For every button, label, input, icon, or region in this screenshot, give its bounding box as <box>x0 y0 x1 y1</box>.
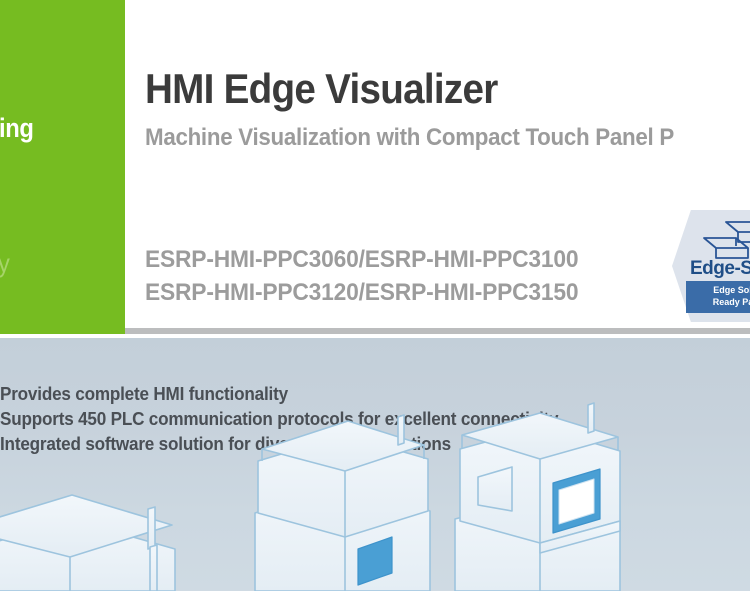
page-subtitle: Machine Visualization with Compact Touch… <box>145 123 674 153</box>
page-title: HMI Edge Visualizer <box>145 66 498 112</box>
touch-panel-screen <box>553 469 600 533</box>
machine-left <box>0 495 175 591</box>
touch-panel-screen-middle <box>358 537 392 585</box>
model-number-row: ESRP-HMI-PPC3120/ESRP-HMI-PPC3150 <box>145 276 578 309</box>
category-sublabel: ...on-Ready ...age <box>0 245 125 319</box>
category-label: ...strial ...pment ...nufacturing <box>0 33 99 147</box>
product-banner: ...strial ...pment ...nufacturing ...on-… <box>0 0 750 591</box>
badge-banner-line-2: Ready Pack <box>686 297 750 309</box>
category-panel: ...strial ...pment ...nufacturing ...on-… <box>0 0 125 334</box>
category-sub-line-1: ...on-Ready <box>0 245 125 282</box>
feature-section: Provides complete HMI functionality Supp… <box>0 338 750 591</box>
model-number-list: ESRP-HMI-PPC3060/ESRP-HMI-PPC3100 ESRP-H… <box>145 243 578 309</box>
header-section: ...strial ...pment ...nufacturing ...on-… <box>0 0 750 334</box>
category-line-2: ...pment <box>0 71 99 109</box>
badge-banner: Edge Soluti Ready Pack <box>686 281 750 313</box>
badge-title: Edge-S <box>690 258 750 280</box>
feature-list-item: Provides complete HMI functionality <box>0 382 608 407</box>
model-number-row: ESRP-HMI-PPC3060/ESRP-HMI-PPC3100 <box>145 243 578 276</box>
header-divider-rule <box>125 328 750 334</box>
category-line-1: ...strial <box>0 33 99 71</box>
feature-list-item: Integrated software solution for diverse… <box>0 432 608 457</box>
edge-solution-badge: Edge-S Edge Soluti Ready Pack <box>672 210 750 322</box>
category-line-3: ...nufacturing <box>0 109 99 147</box>
feature-list-item: Supports 450 PLC communication protocols… <box>0 407 608 432</box>
category-sub-line-2: ...age <box>0 282 125 319</box>
stacked-boxes-icon <box>696 218 750 262</box>
feature-list: Provides complete HMI functionality Supp… <box>0 382 640 457</box>
badge-banner-line-1: Edge Soluti <box>686 285 750 297</box>
